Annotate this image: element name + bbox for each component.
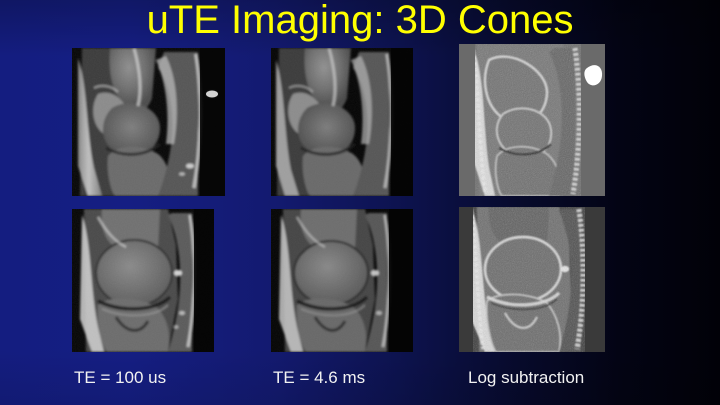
mri-image-top-right (459, 44, 605, 196)
mri-panel-top-middle (271, 48, 413, 196)
mri-image-bottom-left (72, 209, 214, 352)
mri-image-top-middle (271, 48, 413, 196)
mri-image-bottom-middle (271, 209, 413, 352)
slide-canvas: uTE Imaging: 3D Cones (0, 0, 720, 405)
mri-panel-bottom-middle (271, 209, 413, 352)
page-title: uTE Imaging: 3D Cones (0, 0, 720, 42)
caption-te-4p6ms: TE = 4.6 ms (273, 368, 365, 388)
caption-log-subtraction: Log subtraction (468, 368, 584, 388)
mri-image-top-left (72, 48, 225, 196)
mri-panel-top-right (459, 44, 605, 196)
mri-panel-top-left (72, 48, 225, 196)
mri-image-bottom-right (459, 207, 605, 352)
caption-te-100us: TE = 100 us (74, 368, 166, 388)
mri-panel-bottom-right (459, 207, 605, 352)
mri-panel-bottom-left (72, 209, 214, 352)
